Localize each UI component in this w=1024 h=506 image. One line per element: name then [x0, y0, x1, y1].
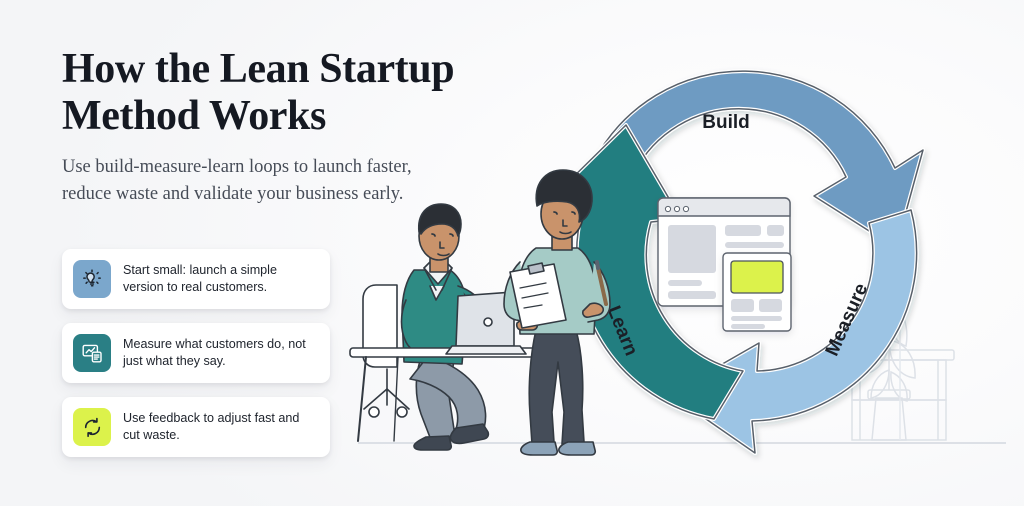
feature-card-label: Measure what customers do, not just what…	[123, 336, 316, 369]
cycle-label-build: Build	[702, 112, 750, 133]
illustration-scene: Build Measure Learn	[340, 0, 1024, 506]
refresh-cycle-icon	[73, 408, 111, 446]
lightbulb-icon	[73, 260, 111, 298]
feature-card-feedback[interactable]: Use feedback to adjust fast and cut wast…	[62, 397, 330, 457]
overlay-card	[723, 253, 791, 331]
window-dots	[665, 206, 688, 211]
infographic-canvas: How the Lean Startup Method Works Use bu…	[0, 0, 1024, 506]
feature-card-label: Start small: launch a simple version to …	[123, 262, 316, 295]
feature-card-label: Use feedback to adjust fast and cut wast…	[123, 410, 316, 443]
title-line-2: Method Works	[62, 93, 326, 139]
feature-card-start-small[interactable]: Start small: launch a simple version to …	[62, 249, 330, 309]
analytics-report-icon	[73, 334, 111, 372]
accent-block	[731, 261, 783, 293]
two-people-at-desk	[350, 170, 610, 455]
feature-card-measure[interactable]: Measure what customers do, not just what…	[62, 323, 330, 383]
feature-card-list: Start small: launch a simple version to …	[62, 249, 330, 471]
